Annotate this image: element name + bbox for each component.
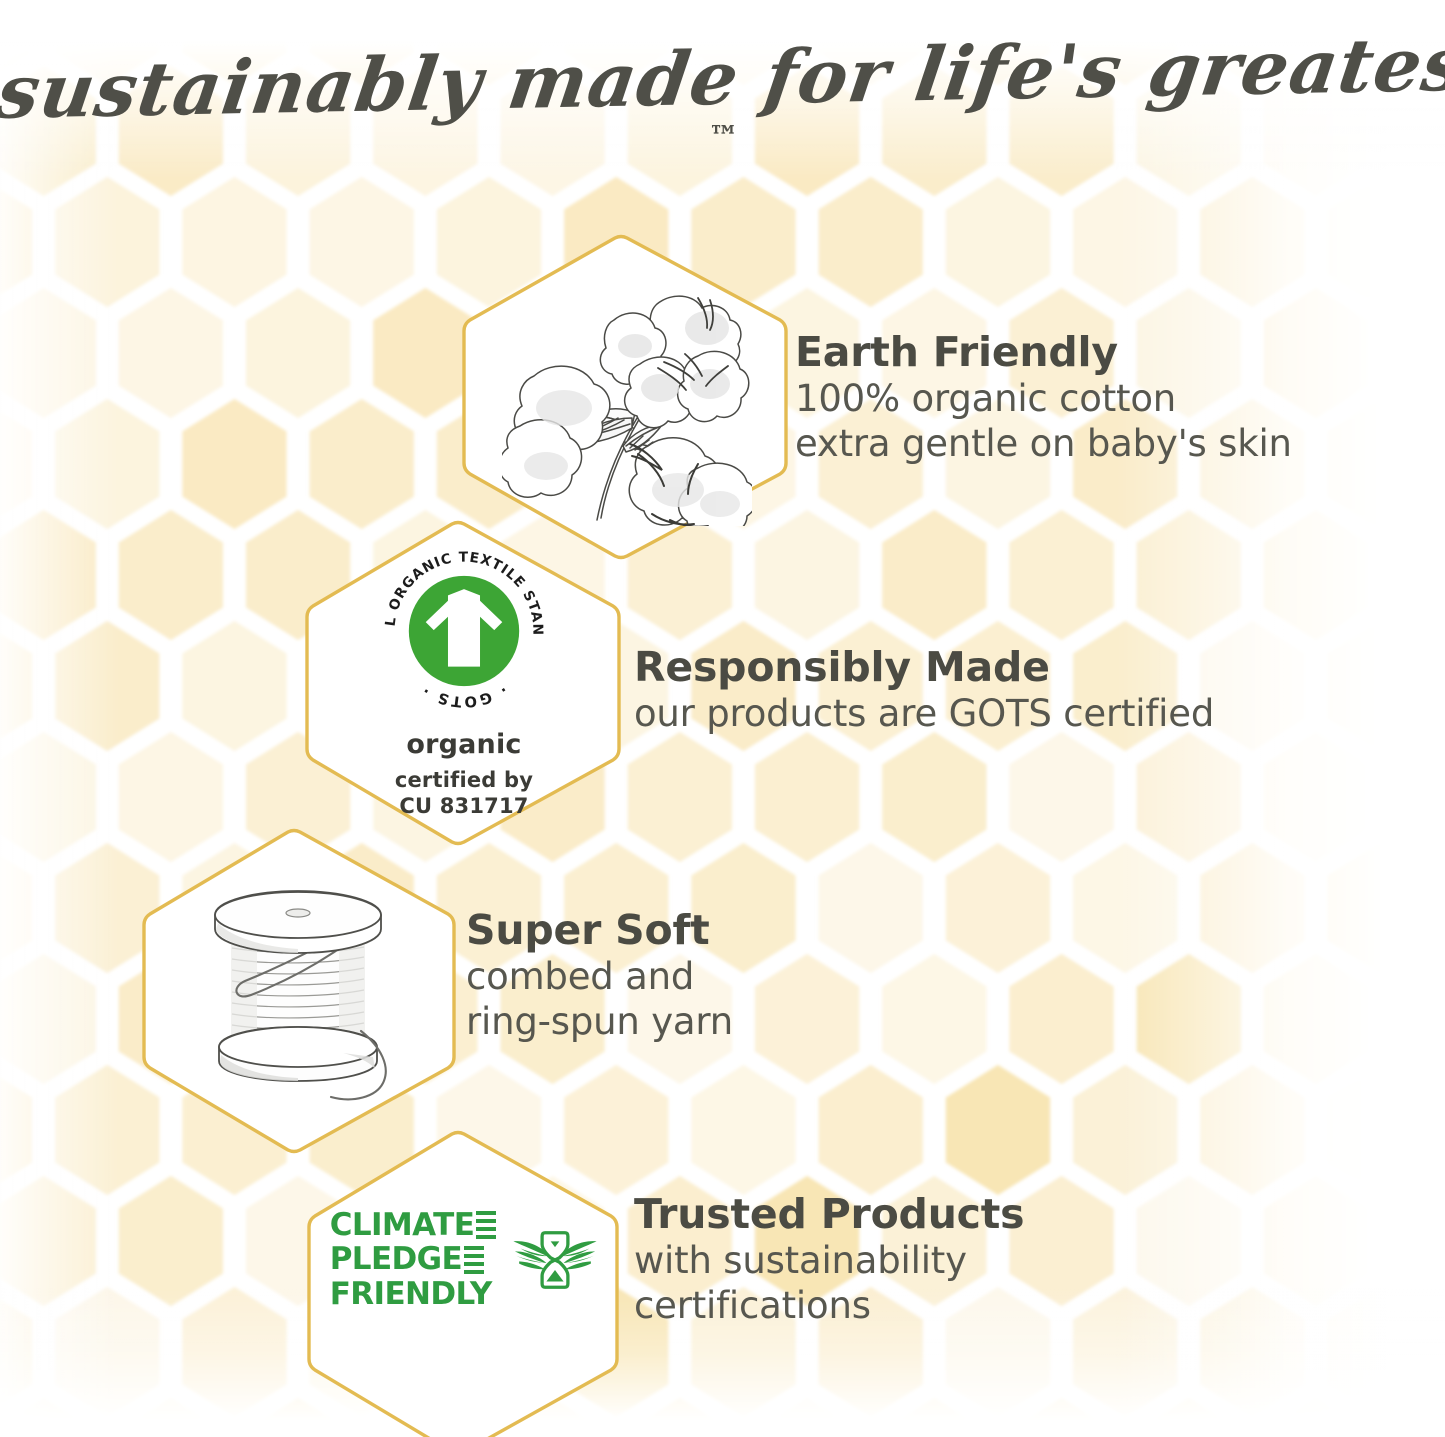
feature-title: Trusted Products bbox=[634, 1192, 1024, 1238]
sustainability-infographic: sustainably made for life's greatest joy… bbox=[0, 0, 1445, 1437]
trademark-symbol: ™ bbox=[709, 120, 739, 155]
feature-text-super-soft: Super Soft combed and ring-spun yarn bbox=[466, 908, 733, 1044]
gots-certificate-number: CU 831717 bbox=[395, 794, 533, 820]
feature-hex-earth-friendly bbox=[462, 232, 792, 562]
page-headline: sustainably made for life's greatest joy… bbox=[0, 34, 1445, 158]
cotton-branch-illustration bbox=[502, 268, 752, 526]
gots-certified-by-label: certified by bbox=[395, 768, 533, 794]
feature-line-2: extra gentle on baby's skin bbox=[795, 421, 1292, 466]
feature-hex-trusted-products: CLIMATE PLEDGE FRIENDLY bbox=[305, 1128, 623, 1437]
feature-line-1: 100% organic cotton bbox=[795, 376, 1292, 421]
thread-spool-illustration bbox=[193, 871, 408, 1111]
feature-line-2: ring-spun yarn bbox=[466, 999, 733, 1044]
cpf-bars-icon bbox=[476, 1211, 496, 1239]
gots-certification-badge: GLOBAL ORGANIC TEXTILE STANDARD · GOTS ·… bbox=[375, 542, 553, 819]
feature-hex-super-soft bbox=[140, 826, 460, 1156]
feature-title: Earth Friendly bbox=[795, 330, 1292, 376]
feature-title: Responsibly Made bbox=[634, 645, 1214, 691]
gots-logo-icon: GLOBAL ORGANIC TEXTILE STANDARD · GOTS · bbox=[375, 542, 553, 720]
cpf-line-2: PLEDGE bbox=[330, 1244, 462, 1274]
winged-hourglass-icon bbox=[512, 1225, 598, 1295]
feature-text-earth-friendly: Earth Friendly 100% organic cotton extra… bbox=[795, 330, 1292, 466]
headline-text: sustainably made for life's greatest joy bbox=[0, 18, 1445, 136]
cpf-line-1: CLIMATE bbox=[330, 1210, 475, 1240]
feature-line-1: our products are GOTS certified bbox=[634, 691, 1214, 736]
feature-line-1: combed and bbox=[466, 954, 733, 999]
cpf-bars-icon bbox=[464, 1246, 484, 1274]
feature-line-1: with sustainability bbox=[634, 1238, 1024, 1283]
cpf-line-3: FRIENDLY bbox=[330, 1279, 492, 1309]
climate-pledge-friendly-badge: CLIMATE PLEDGE FRIENDLY bbox=[330, 1210, 599, 1309]
feature-text-trusted-products: Trusted Products with sustainability cer… bbox=[634, 1192, 1024, 1328]
feature-hex-responsibly-made: GLOBAL ORGANIC TEXTILE STANDARD · GOTS ·… bbox=[303, 518, 625, 848]
feature-title: Super Soft bbox=[466, 908, 733, 954]
feature-line-2: certifications bbox=[634, 1283, 1024, 1328]
gots-organic-label: organic bbox=[406, 729, 521, 760]
feature-text-responsibly-made: Responsibly Made our products are GOTS c… bbox=[634, 645, 1214, 736]
